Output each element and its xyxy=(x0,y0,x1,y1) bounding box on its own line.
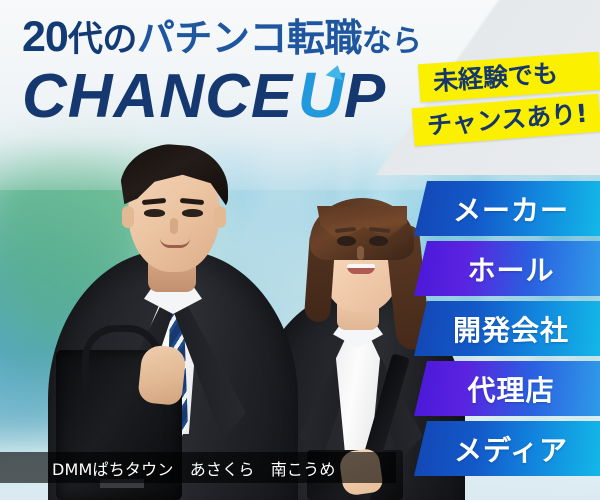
headline-pachinko-tenshoku: パチンコ転職 xyxy=(137,16,362,60)
headline-line-2: CHANCE UP xyxy=(22,63,422,128)
category-label: 開発会社 xyxy=(445,309,569,349)
advertisement-banner[interactable]: 20代のパチンコ転職なら CHANCE UP 未経験でも チャンスあり! メーカ… xyxy=(0,0,600,500)
headline-number: 20 xyxy=(22,13,68,61)
woman-eye-left xyxy=(337,236,356,246)
woman-nose xyxy=(357,246,364,260)
category-button-developer[interactable]: 開発会社 xyxy=(414,301,600,356)
category-label: 代理店 xyxy=(459,369,554,409)
woman-mouth xyxy=(347,264,375,274)
category-label: メーカー xyxy=(445,189,569,229)
category-label: ホール xyxy=(459,249,554,289)
man-hand xyxy=(137,344,187,406)
man-eye-left xyxy=(144,209,165,217)
man-nose xyxy=(170,218,178,234)
credits-bar: DMMぱちタウン あさくら 南こうめ xyxy=(0,452,396,483)
logo-p-text: P xyxy=(344,62,385,131)
category-button-hall[interactable]: ホール xyxy=(414,241,600,296)
headline-dai-no: 代の xyxy=(68,20,137,60)
promo-badge-2: チャンスあり! xyxy=(412,94,600,147)
logo-chance-text: CHANCE xyxy=(22,62,293,131)
category-button-agency[interactable]: 代理店 xyxy=(414,361,600,416)
headline-nara: なら xyxy=(362,24,422,59)
credits-names: DMMぱちタウン あさくら 南こうめ xyxy=(0,456,336,480)
woman-eye-right xyxy=(369,236,388,246)
category-button-maker[interactable]: メーカー xyxy=(414,181,600,236)
man-ear-left xyxy=(122,206,134,228)
man-photo xyxy=(48,110,298,500)
category-button-media[interactable]: メディア xyxy=(414,421,600,476)
category-list: メーカー ホール 開発会社 代理店 メディア xyxy=(414,181,600,476)
promo-badge-stack: 未経験でも チャンスあり! xyxy=(413,58,600,139)
man-eye-right xyxy=(182,209,203,217)
man-ear-right xyxy=(214,206,226,228)
headline-block: 20代のパチンコ転職なら CHANCE UP xyxy=(22,16,422,128)
logo-u-wrap: U xyxy=(298,63,344,127)
headline-line-1: 20代のパチンコ転職なら xyxy=(22,16,422,59)
category-label: メディア xyxy=(446,429,568,469)
